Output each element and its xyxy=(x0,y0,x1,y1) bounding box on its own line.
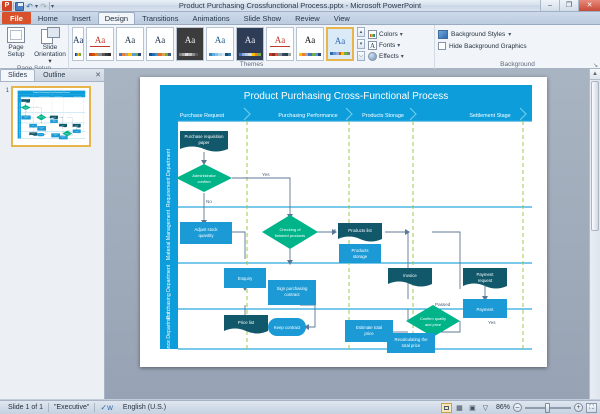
theme-preview-text: Aa xyxy=(147,35,173,45)
theme-preview-text: Aa xyxy=(328,36,352,46)
svg-text:Product Purchasing Cross-Funct: Product Purchasing Cross-Functional Proc… xyxy=(244,91,449,102)
svg-text:Purchasing Department: Purchasing Department xyxy=(166,264,172,319)
background-styles-button[interactable]: Background Styles ▾ xyxy=(438,30,527,39)
chevron-down-icon: ▾ xyxy=(508,31,511,38)
tab-slide-show[interactable]: Slide Show xyxy=(237,12,289,24)
main-area: Slides Outline ✕ 1 xyxy=(0,69,600,399)
shape-label-payment: Payment xyxy=(477,307,495,312)
theme-theme-aspect[interactable]: Aa xyxy=(206,27,234,61)
svg-text:Yes: Yes xyxy=(262,172,270,177)
theme-color-strip xyxy=(299,53,321,56)
zoom-controls: 86% – + ⛶ xyxy=(492,403,597,413)
normal-view-button[interactable] xyxy=(441,403,452,413)
svg-text:Finance Department: Finance Department xyxy=(166,311,172,359)
theme-theme-angles[interactable]: Aa xyxy=(116,27,144,61)
shape-label-price-list: Price list xyxy=(238,320,255,325)
theme-scroll-up-icon[interactable]: ▴ xyxy=(357,27,365,37)
theme-color-strip xyxy=(239,53,261,56)
shape-label-recalculating-the-total-price: total price xyxy=(402,343,421,348)
hide-background-graphics-checkbox[interactable]: Hide Background Graphics xyxy=(438,42,527,50)
slide-orientation-label-1: Slide xyxy=(43,44,57,51)
shape-label-purchase-requisition-paper: Purchase requisition xyxy=(185,134,225,139)
background-dialog-launcher[interactable]: ↘ xyxy=(593,62,598,69)
thumbnail-preview xyxy=(14,89,88,142)
language-indicator[interactable]: English (U.S.) xyxy=(118,402,171,414)
shape-label-payment-request: request xyxy=(478,278,493,283)
tab-home[interactable]: Home xyxy=(31,12,65,24)
page-setup-button[interactable]: Page Setup xyxy=(3,27,29,58)
shape-label-sign-purchasing-contract: contract xyxy=(284,292,300,297)
theme-effects-icon xyxy=(368,52,377,61)
theme-more-icon[interactable]: ⌵ xyxy=(357,51,365,61)
theme-fonts-button[interactable]: A Fonts ▾ xyxy=(368,40,404,50)
theme-theme-executive[interactable]: Aa xyxy=(326,27,354,61)
shape-label-products-list: Products list xyxy=(348,228,372,233)
theme-color-strip xyxy=(330,52,350,55)
theme-color-strip xyxy=(119,53,141,56)
theme-variants: Colors ▾ A Fonts ▾ Effects ▾ xyxy=(368,27,404,61)
theme-preview-text: Aa xyxy=(267,35,293,45)
slide-editing-area[interactable]: Product Purchasing Cross-Functional Proc… xyxy=(105,69,600,399)
theme-preview-text: Aa xyxy=(177,35,203,45)
slides-pane-body: 1 xyxy=(0,82,104,399)
page-setup-label-1: Page xyxy=(8,44,23,51)
svg-text:Products Storage: Products Storage xyxy=(362,113,404,119)
theme-colors-icon xyxy=(368,30,377,39)
tab-view[interactable]: View xyxy=(327,12,357,24)
theme-color-strip xyxy=(269,53,291,56)
svg-text:Purchase Request: Purchase Request xyxy=(180,113,225,119)
window-controls: – ❐ ✕ xyxy=(540,0,600,11)
theme-colors-button[interactable]: Colors ▾ xyxy=(368,29,404,39)
ribbon: Page Setup Slide Orientation ▾ Page Setu… xyxy=(0,25,600,69)
fit-to-window-button[interactable]: ⛶ xyxy=(586,403,597,413)
tab-review[interactable]: Review xyxy=(288,12,327,24)
maximize-button[interactable]: ❐ xyxy=(559,0,578,11)
svg-text:Settlement Stage: Settlement Stage xyxy=(469,113,510,119)
shape-label-invoice: Invoice xyxy=(403,273,417,278)
zoom-slider-thumb[interactable] xyxy=(545,403,550,413)
theme-fonts-icon: A xyxy=(368,41,377,50)
shape-label-adjust-stock-quantity: quantity xyxy=(198,233,214,238)
slide-thumbnail[interactable] xyxy=(11,86,91,147)
theme-preview-text: Aa xyxy=(237,35,263,45)
close-pane-icon[interactable]: ✕ xyxy=(95,71,101,79)
slide-indicator[interactable]: Slide 1 of 1 xyxy=(3,402,48,414)
theme-theme-apothecary[interactable]: Aa xyxy=(176,27,204,61)
shape-label-recalculating-the-total-price: Recalculating the xyxy=(395,337,429,342)
theme-color-strip xyxy=(75,53,81,56)
theme-underline xyxy=(90,46,110,47)
group-label-themes: Themes xyxy=(72,61,431,69)
zoom-slider[interactable] xyxy=(525,407,571,409)
theme-preview-text: Aa xyxy=(297,35,323,45)
svg-text:Yes: Yes xyxy=(488,320,496,325)
theme-fonts-label: Fonts xyxy=(379,42,395,49)
theme-preview-text: Aa xyxy=(207,35,233,45)
shape-label-enquiry: Enquiry xyxy=(238,276,253,281)
svg-text:Purchasing Performance: Purchasing Performance xyxy=(278,113,337,119)
tab-outline[interactable]: Outline xyxy=(35,69,73,81)
theme-gallery[interactable]: AaAaAaAaAaAaAaAaAaAa xyxy=(72,27,354,61)
tab-slides[interactable]: Slides xyxy=(0,69,35,81)
theme-color-strip xyxy=(149,53,171,56)
zoom-level[interactable]: 86% xyxy=(496,404,510,411)
background-controls: Background Styles ▾ Hide Background Grap… xyxy=(438,27,527,50)
slide-orientation-icon xyxy=(41,27,59,43)
powerpoint-window: P ↶ ▾ ↷ ▾ Product Purchasing Crossfuncti… xyxy=(0,0,600,414)
group-label-background: Background xyxy=(438,61,597,69)
theme-theme-civic[interactable]: Aa xyxy=(296,27,324,61)
svg-text:Material Management: Material Management xyxy=(166,209,172,260)
chevron-down-icon: ▾ xyxy=(397,42,400,49)
shape-label-adjust-stock-quantity: Adjust stock xyxy=(194,227,218,232)
checkbox-icon[interactable] xyxy=(438,42,446,50)
theme-scroll-down-icon[interactable]: ▾ xyxy=(357,39,365,49)
title-bar: P ↶ ▾ ↷ ▾ Product Purchasing Crossfuncti… xyxy=(0,0,600,12)
close-button[interactable]: ✕ xyxy=(578,0,600,11)
theme-color-strip xyxy=(89,53,111,56)
background-styles-icon xyxy=(438,30,448,39)
scroll-up-icon[interactable]: ▲ xyxy=(590,69,600,80)
shape-label-keep-contract: Keep contract xyxy=(274,325,301,330)
theme-color-strip xyxy=(209,53,231,56)
slide-orientation-label-2: Orientation ▾ xyxy=(34,51,66,65)
tab-animations[interactable]: Animations xyxy=(185,12,236,24)
theme-effects-button[interactable]: Effects ▾ xyxy=(368,51,404,61)
svg-text:Passed: Passed xyxy=(435,302,451,307)
hide-background-graphics-label: Hide Background Graphics xyxy=(449,43,527,50)
slides-pane-tabs: Slides Outline ✕ xyxy=(0,69,104,82)
theme-theme-black-tie[interactable]: Aa xyxy=(266,27,294,61)
spell-check-icon[interactable]: ✓w xyxy=(95,402,117,414)
slide-orientation-button[interactable]: Slide Orientation ▾ xyxy=(35,27,65,65)
chevron-down-icon: ▾ xyxy=(400,31,403,38)
reading-view-button[interactable]: ▣ xyxy=(467,403,478,413)
theme-effects-label: Effects xyxy=(379,53,399,60)
slide-show-view-button[interactable]: ▽ xyxy=(480,403,491,413)
ribbon-tabs: File Home Insert Design Transitions Anim… xyxy=(0,12,600,25)
page-setup-label-2: Setup xyxy=(8,51,25,58)
theme-theme-austin[interactable]: Aa xyxy=(236,27,264,61)
page-setup-icon xyxy=(7,27,25,43)
scrollbar-thumb[interactable] xyxy=(591,81,599,231)
tab-insert[interactable]: Insert xyxy=(65,12,98,24)
shape-label-checking-of-finished-products: Checking of xyxy=(279,227,301,232)
status-bar: Slide 1 of 1 "Executive" ✓w English (U.S… xyxy=(0,400,600,414)
slide-sorter-view-button[interactable]: ▦ xyxy=(454,403,465,413)
tab-design[interactable]: Design xyxy=(98,12,135,24)
theme-preview-text: Aa xyxy=(117,35,143,45)
ribbon-group-themes: AaAaAaAaAaAaAaAaAaAa ▴ ▾ ⌵ Colors ▾ A Fo… xyxy=(68,25,434,69)
slides-pane: Slides Outline ✕ 1 xyxy=(0,69,105,399)
theme-name[interactable]: "Executive" xyxy=(49,402,94,414)
svg-text:Requirement Department: Requirement Department xyxy=(166,148,172,207)
slide-number: 1 xyxy=(2,86,9,94)
slide-canvas[interactable]: Product Purchasing Cross-Functional Proc… xyxy=(140,77,547,367)
shape-label-products-storage: Products xyxy=(352,248,369,253)
slide-thumbnail-item[interactable]: 1 xyxy=(2,86,102,147)
minimize-button[interactable]: – xyxy=(540,0,559,11)
chevron-down-icon: ▾ xyxy=(401,53,404,60)
shape-label-administrator-confirm: confirm xyxy=(197,179,211,184)
theme-theme-partial-left[interactable]: Aa xyxy=(72,27,84,61)
zoom-out-button[interactable]: – xyxy=(513,403,522,412)
theme-theme-apex[interactable]: Aa xyxy=(146,27,174,61)
svg-text:No: No xyxy=(206,199,212,204)
zoom-in-button[interactable]: + xyxy=(574,403,583,412)
window-title: Product Purchasing Crossfunctional Proce… xyxy=(0,1,600,10)
shape-label-purchase-requisition-paper: paper xyxy=(199,140,211,145)
shape-label-confirm-quality-and-price: and price xyxy=(425,322,441,327)
shape-label-estimate-total-price: price xyxy=(364,331,374,336)
shape-label-estimate-total-price: Estimate total xyxy=(356,325,382,330)
normal-view-icon xyxy=(444,406,449,410)
theme-colors-label: Colors xyxy=(379,31,398,38)
ribbon-group-page-setup: Page Setup Slide Orientation ▾ Page Setu… xyxy=(0,25,68,69)
theme-preview-text: Aa xyxy=(87,35,113,45)
tab-transitions[interactable]: Transitions xyxy=(135,12,185,24)
tab-file[interactable]: File xyxy=(2,12,31,24)
ribbon-group-background: Background Styles ▾ Hide Background Grap… xyxy=(434,25,600,69)
theme-underline xyxy=(270,46,290,47)
theme-preview-text: Aa xyxy=(73,35,83,45)
shape-label-products-storage: storage xyxy=(353,254,368,259)
theme-color-strip xyxy=(179,53,201,56)
shape-label-payment-request: Payment xyxy=(477,272,495,277)
background-styles-label: Background Styles xyxy=(451,31,505,38)
theme-theme-adjacency[interactable]: Aa xyxy=(86,27,114,61)
shape-label-administrator-confirm: Administrator xyxy=(192,173,216,178)
shape-label-confirm-quality-and-price: Confirm quality xyxy=(420,316,446,321)
theme-gallery-scroll[interactable]: ▴ ▾ ⌵ xyxy=(357,27,365,61)
flowchart-diagram[interactable]: Product Purchasing Cross-Functional Proc… xyxy=(140,77,547,367)
vertical-scrollbar[interactable]: ▲ xyxy=(589,69,600,399)
shape-label-sign-purchasing-contract: Sign purchasing xyxy=(277,286,308,291)
shape-label-checking-of-finished-products: finished products xyxy=(275,233,305,238)
